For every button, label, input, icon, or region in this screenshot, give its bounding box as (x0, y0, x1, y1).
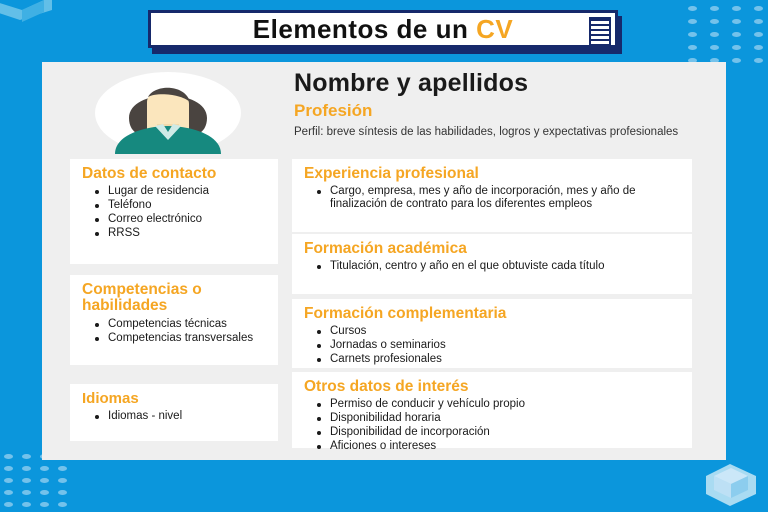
cv-panel: Nombre y apellidos Profesión Perfil: bre… (42, 62, 726, 460)
list-item: Aficiones o intereses (330, 440, 682, 453)
card-title: Formación académica (304, 241, 682, 257)
card-title: Otros datos de interés (304, 379, 682, 395)
list-item: Competencias transversales (108, 332, 268, 345)
card-title: Experiencia profesional (304, 166, 682, 182)
list-item: Titulación, centro y año en el que obtuv… (330, 260, 682, 273)
card-list: Permiso de conducir y vehículo propio Di… (304, 398, 682, 453)
page-title-accent: CV (476, 14, 513, 44)
card-title: Competencias o habilidades (82, 282, 268, 315)
card-formacion-academica: Formación académica Titulación, centro y… (292, 234, 692, 294)
list-item: Permiso de conducir y vehículo propio (330, 398, 682, 411)
card-list: Lugar de residencia Teléfono Correo elec… (82, 185, 268, 240)
card-title: Datos de contacto (82, 166, 268, 182)
list-item: Teléfono (108, 199, 268, 212)
brand-cube-logo-icon (700, 456, 762, 508)
candidate-profession: Profesión (294, 102, 709, 121)
page-title-main: Elementos de un (253, 14, 469, 44)
candidate-name: Nombre y apellidos (294, 70, 709, 98)
banner-stripes-icon (589, 17, 611, 47)
banner-plate: Elementos de un CV (148, 10, 618, 48)
card-list: Cargo, empresa, mes y año de incorporaci… (304, 185, 682, 211)
card-title: Formación complementaria (304, 306, 682, 322)
cv-name-block: Nombre y apellidos Profesión Perfil: bre… (294, 70, 709, 140)
title-banner: Elementos de un CV (148, 10, 618, 48)
list-item: Idiomas - nivel (108, 410, 268, 423)
list-item: Jornadas o seminarios (330, 339, 682, 352)
card-formacion-complementaria: Formación complementaria Cursos Jornadas… (292, 299, 692, 368)
card-list: Idiomas - nivel (82, 410, 268, 423)
card-list: Competencias técnicas Competencias trans… (82, 318, 268, 345)
cv-header: Nombre y apellidos Profesión Perfil: bre… (42, 62, 726, 152)
list-item: RRSS (108, 227, 268, 240)
list-item: Cursos (330, 325, 682, 338)
card-experiencia-profesional: Experiencia profesional Cargo, empresa, … (292, 159, 692, 232)
user-avatar-icon (95, 72, 241, 154)
list-item: Carnets profesionales (330, 353, 682, 366)
list-item: Competencias técnicas (108, 318, 268, 331)
card-datos-de-contacto: Datos de contacto Lugar de residencia Te… (70, 159, 278, 264)
card-idiomas: Idiomas Idiomas - nivel (70, 384, 278, 441)
list-item: Lugar de residencia (108, 185, 268, 198)
dot-grid-top-right (688, 6, 762, 62)
dot-grid-bottom-left (4, 454, 66, 510)
list-item: Disponibilidad horaria (330, 412, 682, 425)
page-title: Elementos de un CV (253, 14, 513, 45)
card-competencias-o-habilidades: Competencias o habilidades Competencias … (70, 275, 278, 365)
card-otros-datos-de-interes: Otros datos de interés Permiso de conduc… (292, 372, 692, 448)
list-item: Disponibilidad de incorporación (330, 426, 682, 439)
list-item: Correo electrónico (108, 213, 268, 226)
brand-cube-logo-icon (0, 0, 54, 44)
card-list: Titulación, centro y año en el que obtuv… (304, 260, 682, 273)
infographic-canvas: Elementos de un CV Nombre y apellidos Pr… (0, 0, 768, 512)
list-item: Cargo, empresa, mes y año de incorporaci… (330, 185, 682, 211)
card-title: Idiomas (82, 391, 268, 407)
card-list: Cursos Jornadas o seminarios Carnets pro… (304, 325, 682, 366)
candidate-profile-summary: Perfil: breve síntesis de las habilidade… (294, 125, 709, 139)
